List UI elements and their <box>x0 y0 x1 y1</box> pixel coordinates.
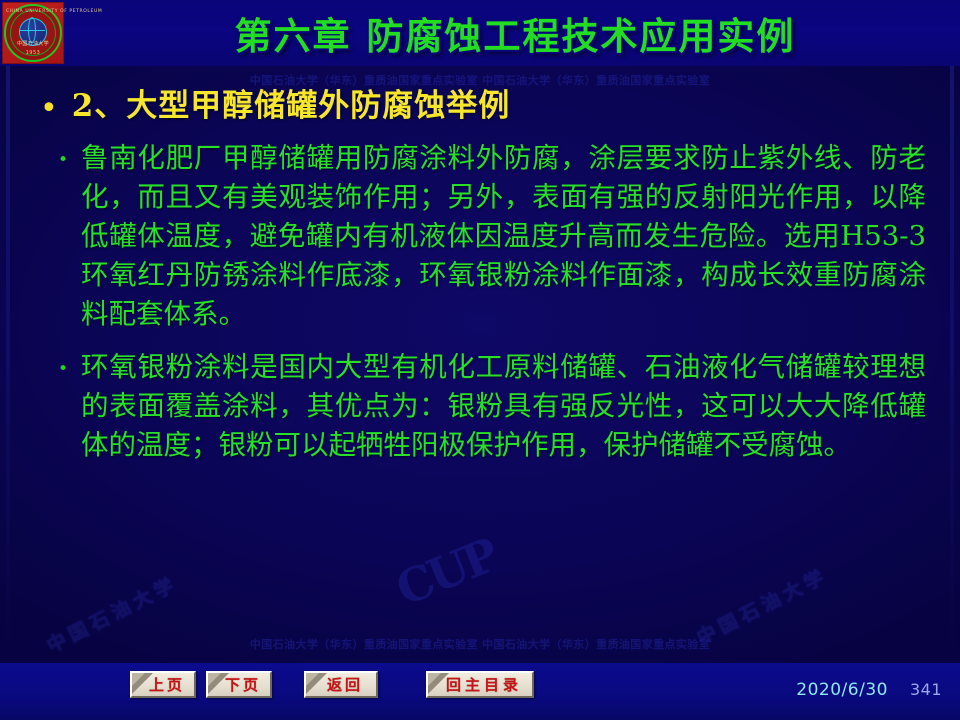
prev-page-label: 上页 <box>135 674 191 695</box>
section-heading: • 2、大型甲醇储罐外防腐蚀举例 <box>40 88 960 125</box>
navigation-bar: 上页 下页 返回 回主目录 <box>130 671 544 698</box>
bullet-icon: • <box>58 152 68 169</box>
body-paragraph: • 环氧银粉涂料是国内大型有机化工原料储罐、石油液化气储罐较理想的表面覆盖涂料，… <box>58 348 926 465</box>
footer-meta: 2020/6/30 341 <box>796 680 942 700</box>
seal-outer-text: CHINA UNIVERSITY OF PETROLEUM <box>6 9 60 14</box>
main-menu-label: 回主目录 <box>432 674 528 695</box>
slide-footer: 上页 下页 返回 回主目录 2020/6/30 341 <box>0 663 960 720</box>
slide-header: 第六章 防腐蚀工程技术应用实例 <box>0 0 960 66</box>
main-menu-button[interactable]: 回主目录 <box>426 671 534 698</box>
seal-circle: CHINA UNIVERSITY OF PETROLEUM 中国石油大学 195… <box>4 4 62 62</box>
return-button[interactable]: 返回 <box>304 671 378 698</box>
page-number: 341 <box>910 680 942 699</box>
heading-bullet-icon: • <box>40 94 58 124</box>
heading-text: 2、大型甲醇储罐外防腐蚀举例 <box>72 88 511 125</box>
bullet-icon: • <box>58 361 68 378</box>
next-page-label: 下页 <box>211 674 267 695</box>
paragraph-text: 环氧银粉涂料是国内大型有机化工原料储罐、石油液化气储罐较理想的表面覆盖涂料，其优… <box>81 348 926 465</box>
return-label: 返回 <box>313 674 369 695</box>
next-page-button[interactable]: 下页 <box>206 671 272 698</box>
paragraph-text: 鲁南化肥厂甲醇储罐用防腐涂料外防腐，涂层要求防止紫外线、防老化，而且又有美观装饰… <box>81 139 926 334</box>
seal-chinese-text: 中国石油大学 <box>6 40 60 47</box>
date-label: 2020/6/30 <box>796 680 888 700</box>
seal-year: 1953 <box>6 50 60 56</box>
page-title: 第六章 防腐蚀工程技术应用实例 <box>0 0 960 66</box>
prev-page-button[interactable]: 上页 <box>130 671 196 698</box>
body-paragraph: • 鲁南化肥厂甲醇储罐用防腐涂料外防腐，涂层要求防止紫外线、防老化，而且又有美观… <box>58 139 926 334</box>
slide-canvas: 中国石油大学（华东）重质油国家重点实验室 中国石油大学（华东）重质油国家重点实验… <box>0 0 960 720</box>
university-logo: CHINA UNIVERSITY OF PETROLEUM 中国石油大学 195… <box>2 2 64 64</box>
slide-content: • 2、大型甲醇储罐外防腐蚀举例 • 鲁南化肥厂甲醇储罐用防腐涂料外防腐，涂层要… <box>0 66 960 661</box>
